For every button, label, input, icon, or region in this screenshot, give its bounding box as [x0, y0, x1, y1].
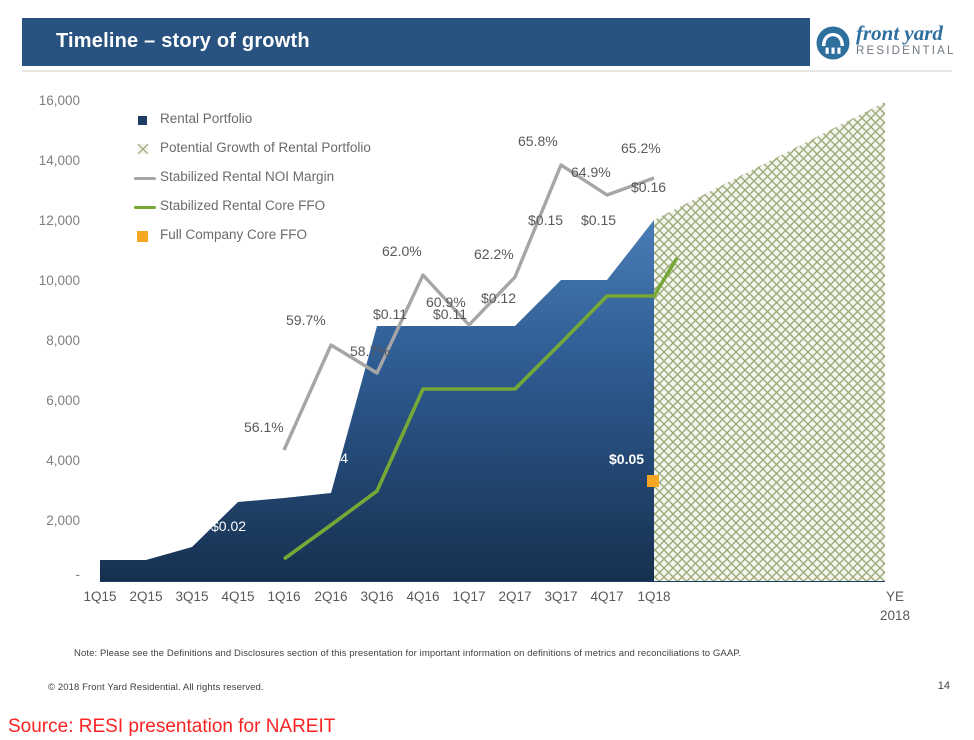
legend-label: Stabilized Rental Core FFO: [160, 198, 325, 213]
legend-swatch-hatched-square: [138, 144, 148, 154]
noi-label-1q18: 65.2%: [621, 140, 661, 156]
chart-area: 16,000 14,000 12,000 10,000 8,000 6,000 …: [0, 84, 974, 614]
noi-label-4q16: 62.0%: [382, 243, 422, 259]
legend-swatch-square-orange: [137, 231, 148, 242]
y-tick-10000: 10,000: [18, 273, 80, 288]
ffo-label-3q16: $0.04: [313, 450, 348, 466]
brand-logo: front yard RESIDENTIAL: [816, 22, 952, 66]
ffo-label-1q16: $0.02: [211, 518, 246, 534]
arch-columns-icon: [816, 26, 850, 60]
ffo-label-3q17: $0.15: [528, 212, 563, 228]
y-tick-2000: 2,000: [18, 513, 80, 528]
logo-line2: RESIDENTIAL: [856, 44, 956, 58]
ffo-label-2q17: $0.12: [481, 290, 516, 306]
y-tick-14000: 14,000: [18, 153, 80, 168]
legend-swatch-line-green: [134, 206, 156, 209]
y-tick-6000: 6,000: [18, 393, 80, 408]
legend-swatch-line-gray: [134, 177, 156, 180]
noi-label-2q16: 59.7%: [286, 312, 326, 328]
logo-wordmark: front yard RESIDENTIAL: [856, 22, 956, 58]
noi-label-3q16: 58.7%: [350, 343, 390, 359]
noi-label-1q16: 56.1%: [244, 419, 284, 435]
legend-label: Full Company Core FFO: [160, 227, 307, 242]
slide: Timeline – story of growth front yard RE…: [0, 0, 974, 740]
legend-label: Potential Growth of Rental Portfolio: [160, 140, 371, 155]
footnote: Note: Please see the Definitions and Dis…: [74, 648, 904, 659]
ffo-label-1q17: $0.11: [433, 306, 467, 322]
series-potential-growth-area: [654, 102, 885, 582]
page-title: Timeline – story of growth: [56, 30, 310, 53]
noi-label-4q17: 64.9%: [571, 164, 611, 180]
source-caption: Source: RESI presentation for NAREIT: [8, 716, 335, 738]
y-tick-4000: 4,000: [18, 453, 80, 468]
y-tick-16000: 16,000: [18, 93, 80, 108]
ffo-label-4q17: $0.15: [581, 212, 616, 228]
legend-swatch-square-navy: [138, 116, 147, 125]
ffo-label-2q16: $0.03: [263, 484, 298, 500]
series-full-company-ffo-marker: [647, 475, 659, 487]
copyright: © 2018 Front Yard Residential. All right…: [48, 682, 264, 693]
x-tick-ye-2018-line2: 2018: [866, 608, 924, 623]
ffo-label-1q18: $0.16: [631, 179, 666, 195]
logo-line1: front yard: [856, 22, 956, 44]
y-tick-8000: 8,000: [18, 333, 80, 348]
y-tick-zero: -: [18, 567, 80, 582]
x-tick-1q18: 1Q18: [625, 589, 683, 604]
ffo-label-4q16: $0.11: [373, 306, 407, 322]
noi-label-2q17: 62.2%: [474, 246, 514, 262]
full-company-ffo-label: $0.05: [609, 451, 644, 467]
x-tick-ye-2018-line1: YE: [866, 589, 924, 604]
legend-label: Rental Portfolio: [160, 111, 252, 126]
noi-label-3q17: 65.8%: [518, 133, 558, 149]
y-tick-12000: 12,000: [18, 213, 80, 228]
page-number: 14: [920, 680, 950, 692]
header-divider: [22, 70, 952, 72]
legend-label: Stabilized Rental NOI Margin: [160, 169, 334, 184]
